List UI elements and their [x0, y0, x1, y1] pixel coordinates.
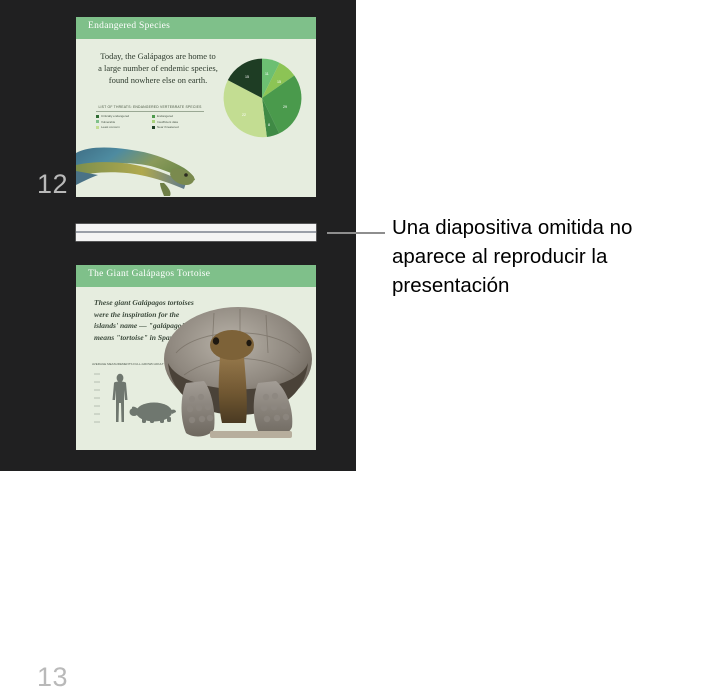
- callout-caption-text: Una diapositiva omitida no aparece al re…: [392, 213, 702, 300]
- chart-legend: Critically endangered Endangered Vulnera…: [96, 114, 208, 131]
- legend-swatch-icon: [152, 126, 155, 129]
- skipped-slide-line: [76, 231, 316, 233]
- iguana-photo: [76, 135, 196, 197]
- legend-item: Vulnerable: [96, 120, 152, 124]
- slide-title-text: Endangered Species: [88, 21, 170, 31]
- pie-slice-label: 29: [283, 105, 287, 109]
- tortoise-photo: [154, 287, 316, 450]
- pie-slice-label: 22: [242, 113, 246, 117]
- slide-number-label: 12: [22, 169, 68, 200]
- pie-chart: 11 15 29 8 22 15: [221, 57, 303, 139]
- legend-swatch-icon: [96, 115, 99, 118]
- legend-item: Near threatened: [152, 125, 208, 129]
- slide-number-label: 13: [22, 662, 68, 693]
- legend-item-label: Critically endangered: [101, 114, 129, 118]
- tortoise-illustration: [154, 287, 316, 450]
- callout-leader-line: [327, 232, 385, 234]
- legend-item-label: Near threatened: [157, 125, 179, 129]
- skipped-slide-indicator[interactable]: [76, 224, 316, 241]
- legend-item-label: Endangered: [157, 114, 173, 118]
- size-comparison-title: AVERAGE MEASUREMENTS FULL-GROWN ADULT: [92, 362, 164, 366]
- slide-thumbnail-12[interactable]: Endangered Species Today, the Galápagos …: [76, 17, 316, 197]
- legend-swatch-icon: [96, 126, 99, 129]
- slide-title-bar: The Giant Galápagos Tortoise: [76, 265, 316, 287]
- chart-legend-title: LIST OF THREATS: ENDANGERED VERTEBRATE S…: [96, 105, 204, 112]
- legend-item-label: Least concern: [101, 125, 120, 129]
- legend-item-label: Insufficient data: [157, 120, 178, 124]
- legend-swatch-icon: [152, 115, 155, 118]
- slide-navigator-panel[interactable]: 12 Endangered Species Today, the Galápag…: [0, 0, 356, 471]
- legend-item: Insufficient data: [152, 120, 208, 124]
- legend-item: Critically endangered: [96, 114, 152, 118]
- iguana-illustration: [76, 135, 196, 197]
- pie-slice-label: 15: [245, 75, 249, 79]
- slide-thumbnail-13[interactable]: The Giant Galápagos Tortoise These giant…: [76, 265, 316, 450]
- slide-body-text: Today, the Galápagos are home to a large…: [98, 50, 218, 86]
- slide-title-text: The Giant Galápagos Tortoise: [88, 269, 210, 279]
- pie-slice-label: 8: [268, 123, 270, 127]
- pie-slice-label: 15: [277, 80, 281, 84]
- legend-item: Endangered: [152, 114, 208, 118]
- pie-slice-label: 11: [265, 72, 269, 76]
- legend-swatch-icon: [96, 120, 99, 123]
- pie-chart-svg: [221, 57, 303, 139]
- slide-title-bar: Endangered Species: [76, 17, 316, 39]
- legend-swatch-icon: [152, 120, 155, 123]
- legend-item-label: Vulnerable: [101, 120, 115, 124]
- legend-item: Least concern: [96, 125, 152, 129]
